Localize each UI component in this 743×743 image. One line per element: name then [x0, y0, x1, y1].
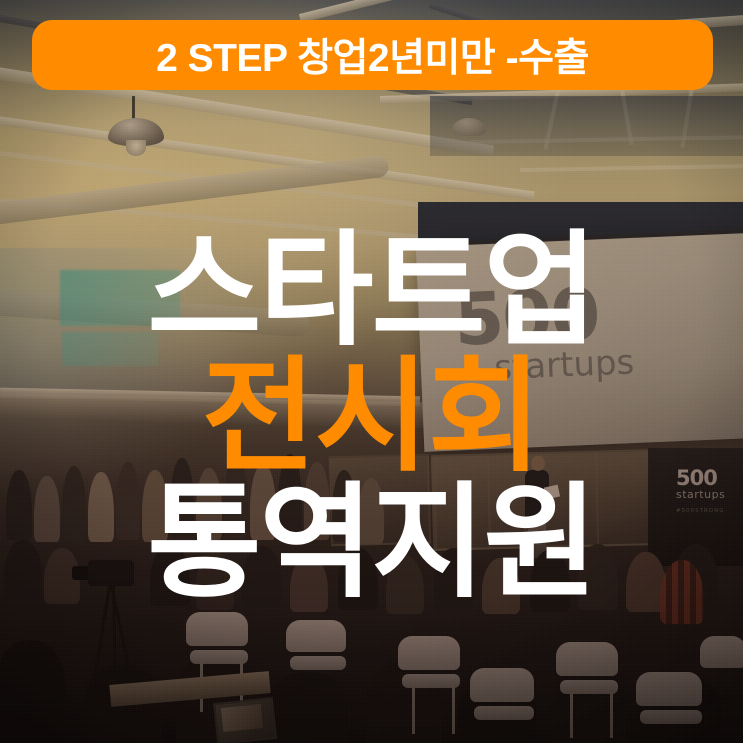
header-banner[interactable]: 2 STEP 창업2년미만 -수출 [32, 20, 713, 90]
headline-block: 스타트업 전시회 통역지원 [0, 228, 743, 606]
headline-line-2: 전시회 [0, 354, 743, 480]
headline-line-1: 스타트업 [0, 228, 743, 354]
headline-line-3: 통역지원 [0, 480, 743, 606]
poster-canvas: 500 startups 500 startups #500STRONG [0, 0, 743, 743]
header-banner-text: 2 STEP 창업2년미만 -수출 [156, 27, 589, 83]
